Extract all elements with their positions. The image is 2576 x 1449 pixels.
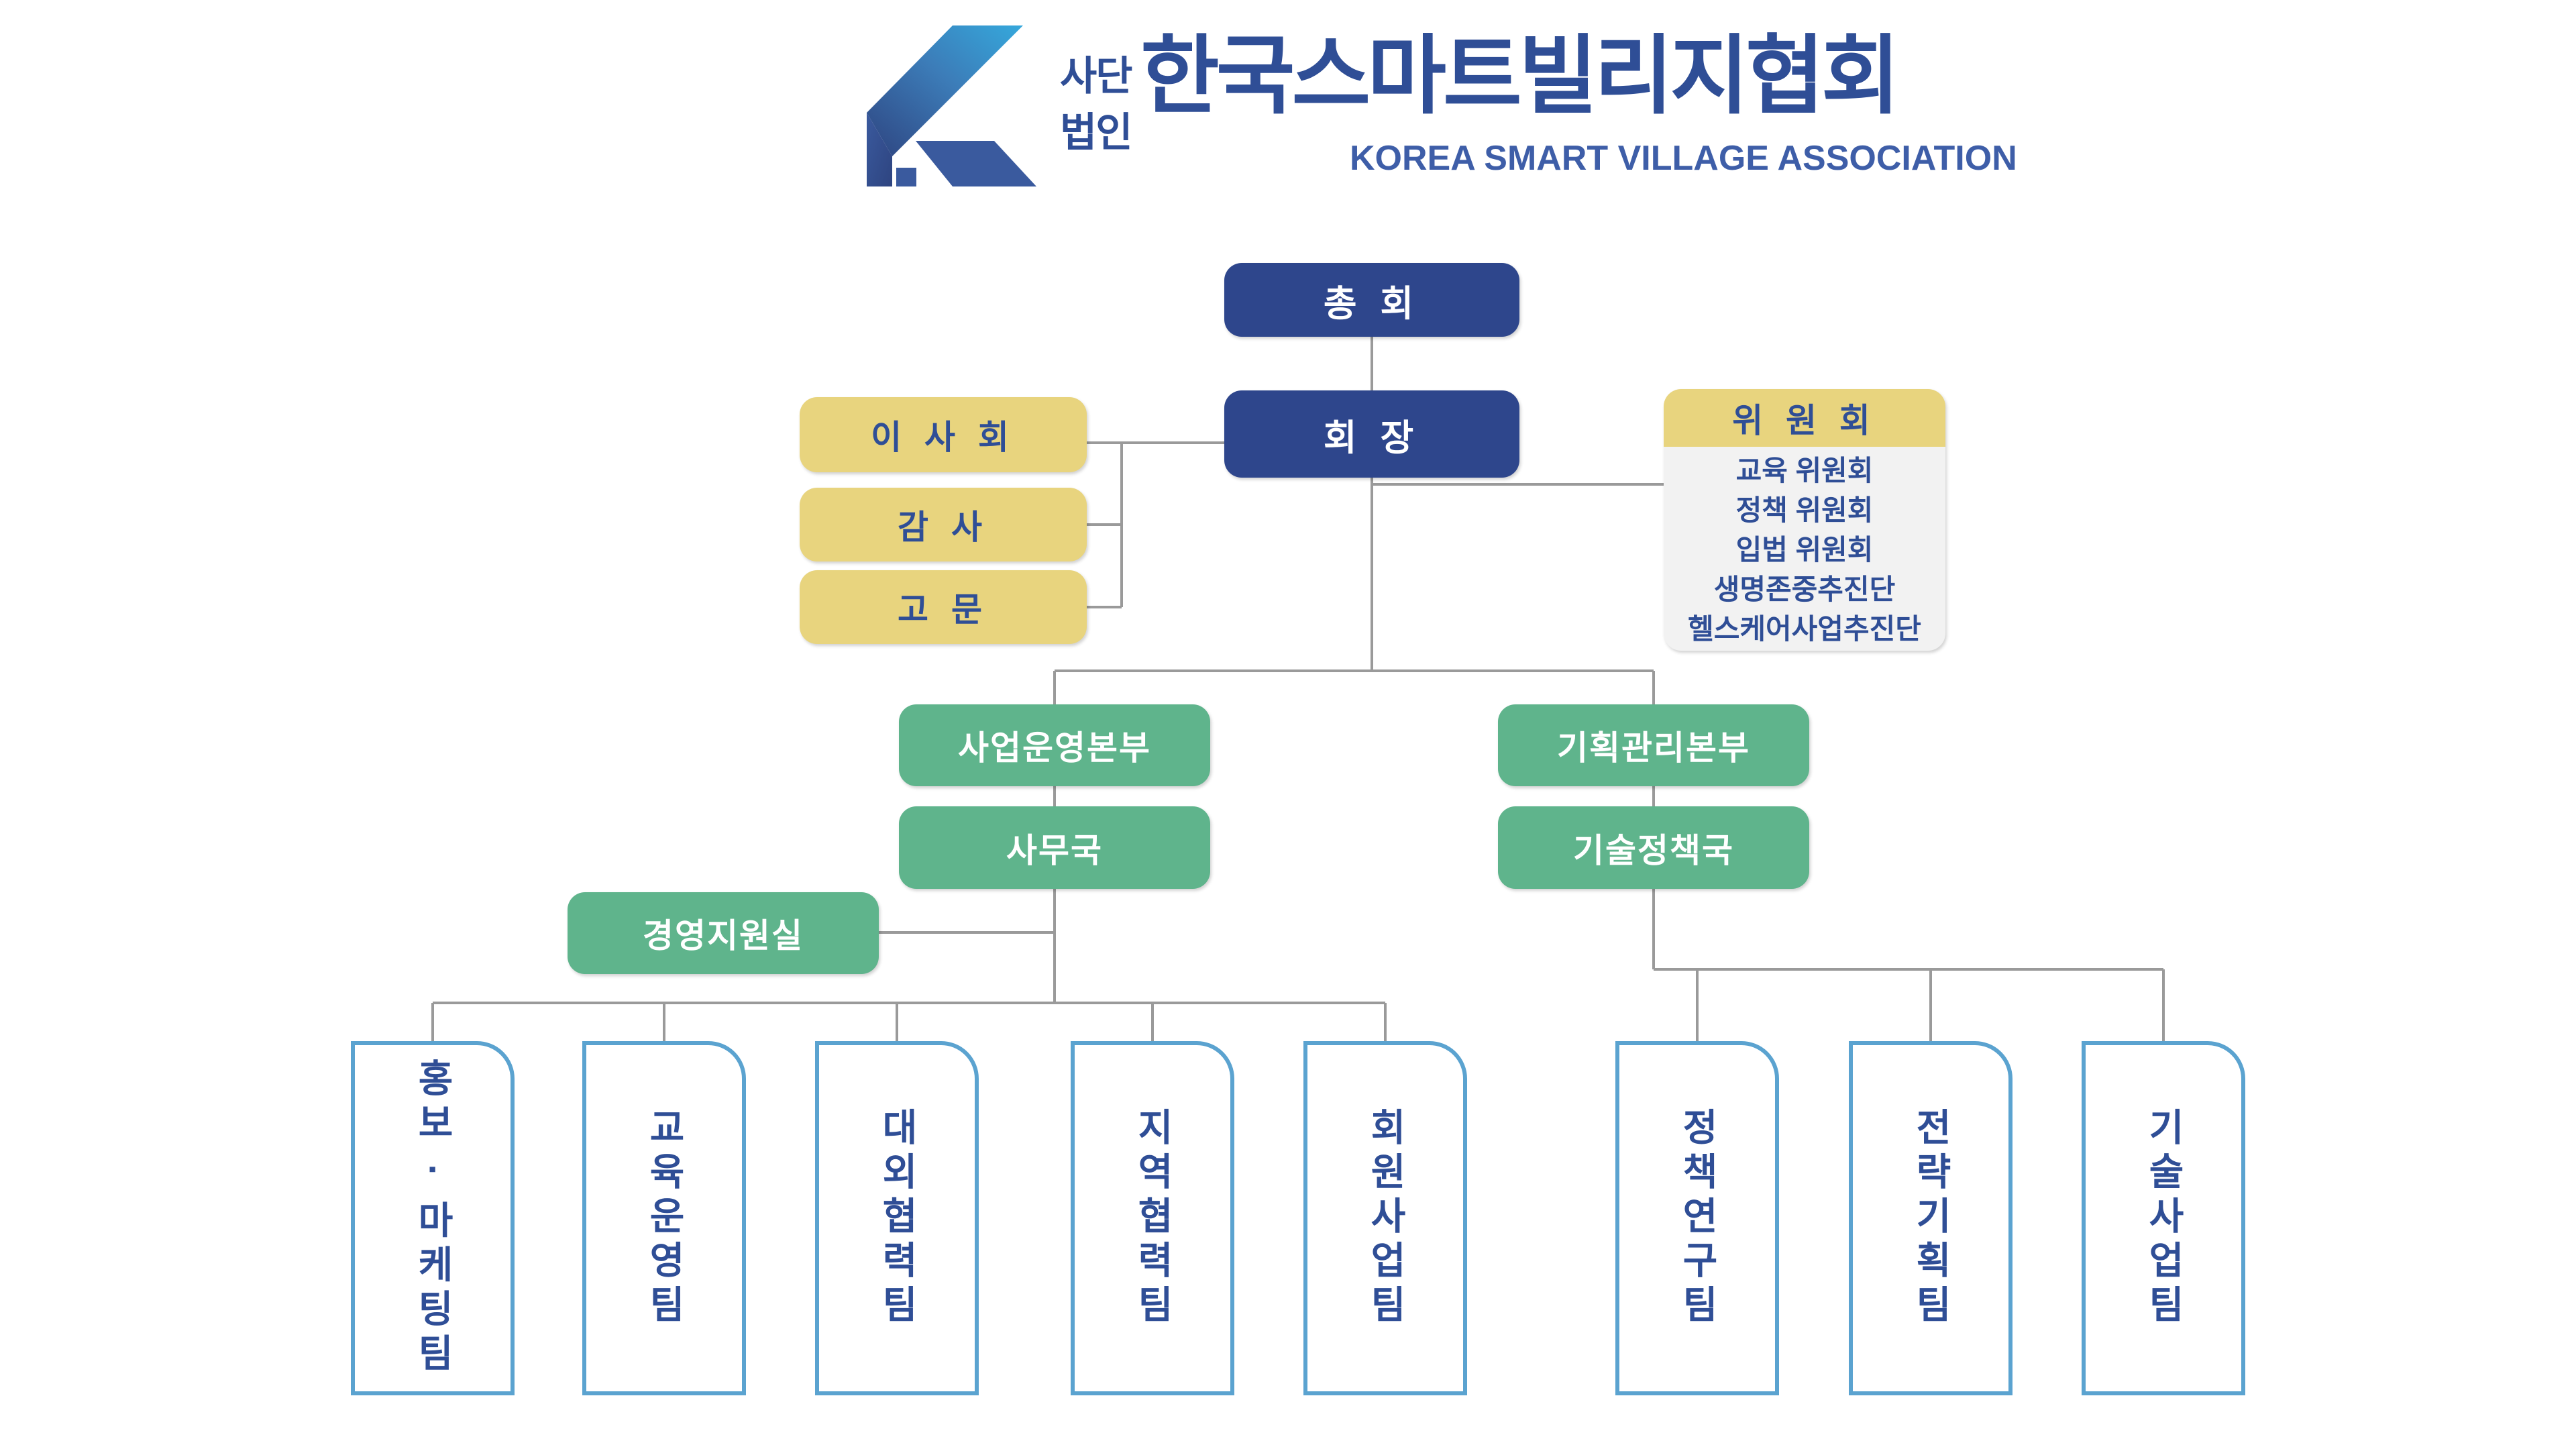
node-president[interactable]: 회 장 — [1224, 390, 1519, 478]
node-management-support[interactable]: 경영지원실 — [568, 892, 879, 974]
committee-header-label: 위 원 회 — [1732, 394, 1877, 442]
node-advisor-label: 고 문 — [898, 583, 989, 631]
team-label: 전략기획팀 — [1912, 1108, 1949, 1329]
committee-item[interactable]: 교육 위원회 — [1736, 451, 1874, 490]
team-label: 대외협력팀 — [878, 1108, 916, 1329]
node-advisor[interactable]: 고 문 — [800, 570, 1087, 644]
committee-item[interactable]: 헬스케어사업추진단 — [1688, 609, 1921, 649]
node-president-label: 회 장 — [1324, 408, 1420, 461]
team-box-education-operations[interactable]: 교육운영팀 — [582, 1041, 746, 1395]
team-box-regional-cooperation[interactable]: 지역협력팀 — [1071, 1041, 1234, 1395]
team-box-policy-research[interactable]: 정책연구팀 — [1615, 1041, 1779, 1395]
committee-panel[interactable]: 위 원 회 교육 위원회 정책 위원회 입법 위원회 생명존중추진단 헬스케어사… — [1664, 389, 1945, 651]
node-tech-policy-bureau[interactable]: 기술정책국 — [1498, 806, 1809, 889]
node-tech-policy-bureau-label: 기술정책국 — [1573, 824, 1734, 872]
node-secretariat[interactable]: 사무국 — [899, 806, 1210, 889]
committee-header: 위 원 회 — [1664, 389, 1945, 447]
team-box-promotion-marketing[interactable]: 홍보 · 마케팅팀 — [351, 1041, 515, 1395]
node-management-support-label: 경영지원실 — [643, 909, 804, 957]
node-board-of-directors[interactable]: 이 사 회 — [800, 397, 1087, 472]
committee-item[interactable]: 정책 위원회 — [1736, 490, 1874, 530]
committee-item[interactable]: 입법 위원회 — [1736, 530, 1874, 570]
node-auditor[interactable]: 감 사 — [800, 488, 1087, 561]
node-business-division[interactable]: 사업운영본부 — [899, 704, 1210, 786]
committee-item[interactable]: 생명존중추진단 — [1714, 570, 1895, 609]
node-planning-division-label: 기획관리본부 — [1557, 721, 1750, 769]
team-box-member-business[interactable]: 회원사업팀 — [1303, 1041, 1467, 1395]
team-label: 지역협력팀 — [1134, 1108, 1171, 1329]
team-label: 회원사업팀 — [1366, 1108, 1404, 1329]
team-box-external-cooperation[interactable]: 대외협력팀 — [815, 1041, 979, 1395]
node-general-assembly-label: 총 회 — [1324, 274, 1420, 327]
committee-list: 교육 위원회 정책 위원회 입법 위원회 생명존중추진단 헬스케어사업추진단 — [1664, 447, 1945, 649]
team-box-strategic-planning[interactable]: 전략기획팀 — [1849, 1041, 2012, 1395]
team-label: 교육운영팀 — [645, 1108, 683, 1329]
team-label: 기술사업팀 — [2145, 1108, 2182, 1329]
node-auditor-label: 감 사 — [898, 500, 989, 549]
node-secretariat-label: 사무국 — [1006, 824, 1103, 872]
node-business-division-label: 사업운영본부 — [958, 721, 1151, 769]
org-chart-page: 사단 법인 한국스마트빌리지협회 KOREA SMART VILLAGE ASS… — [0, 0, 2576, 1449]
team-box-technology-business[interactable]: 기술사업팀 — [2082, 1041, 2245, 1395]
node-general-assembly[interactable]: 총 회 — [1224, 263, 1519, 337]
team-label: 정책연구팀 — [1678, 1108, 1716, 1329]
node-board-label: 이 사 회 — [871, 411, 1016, 459]
node-planning-division[interactable]: 기획관리본부 — [1498, 704, 1809, 786]
team-label: 홍보 · 마케팅팀 — [414, 1059, 451, 1378]
